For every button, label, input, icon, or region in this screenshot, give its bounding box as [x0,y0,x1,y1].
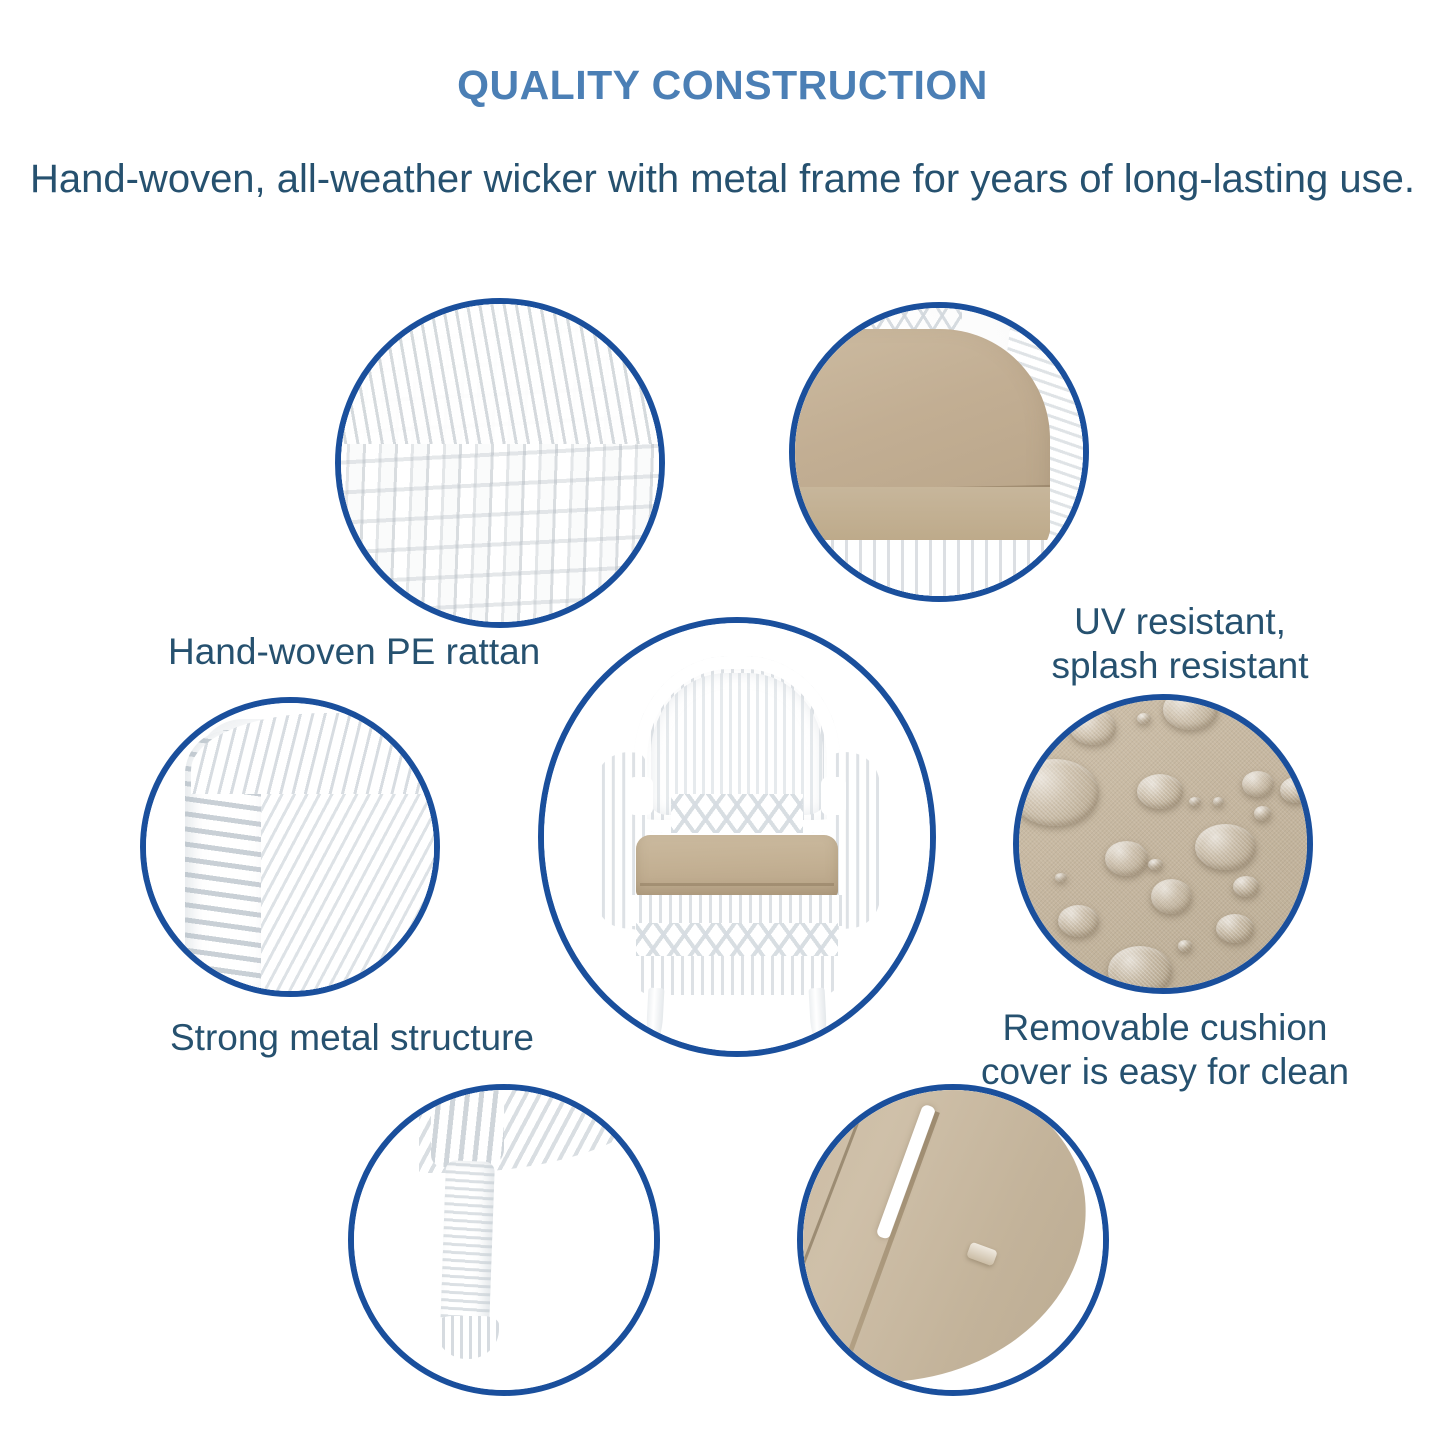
water-droplet [1070,710,1117,745]
chair-skirt-upper [632,895,843,925]
caption-removable-cushion-cover: Removable cushion cover is easy for clea… [980,1006,1350,1093]
water-droplet [1108,946,1172,990]
water-droplet [1242,771,1274,797]
water-droplet [1055,873,1067,882]
water-droplet [1189,797,1201,806]
water-droplet [1195,824,1256,871]
chair-leg-left [646,988,665,1045]
page-subtitle: Hand-woven, all-weather wicker with meta… [0,157,1445,202]
chair-back-lattice [671,794,804,833]
chair-scene [542,621,932,1053]
chair-arm-opening-right [821,777,846,816]
cushion-closeup-scene [793,306,1085,598]
chair-seat-cushion [636,835,839,898]
feature-circle-hand-woven-pe-rattan [335,298,665,628]
chair-leg-right [809,988,828,1045]
photo-hand-woven-pe-rattan [339,302,661,624]
leg-woven-foot [436,1316,500,1359]
photo-arm-corner-closeup [144,701,436,993]
photo-full-chair [542,621,932,1053]
water-repellent-fabric-scene [1017,698,1309,990]
water-droplet [1254,806,1272,821]
water-droplet [1178,940,1193,952]
water-droplet [1137,774,1184,809]
water-droplet [1148,859,1163,871]
cushion-cover-fabric [801,1088,1095,1388]
arm-corner-scene [144,701,436,993]
photo-water-droplets [1017,698,1309,990]
caption-uv-splash-resistant: UV resistant, splash resistant [1020,600,1340,687]
page-title: QUALITY CONSTRUCTION [0,62,1445,109]
water-droplet [1213,797,1225,806]
feature-circle-full-chair [538,617,936,1057]
cushion-zipper-scene [801,1088,1105,1392]
chair-leg-scene [352,1088,656,1392]
water-droplet [1105,841,1149,876]
chair-seat-wicker [793,540,1085,598]
chair-arm-opening-left [628,777,653,816]
water-droplet [1058,905,1099,937]
feature-circle-removable-cushion-cover [1013,694,1313,994]
water-droplet [1151,879,1192,914]
photo-cushion-zipper [801,1088,1105,1392]
wicker-weave-upper-band [339,302,661,444]
water-droplet [1216,914,1254,943]
water-droplet [1280,777,1309,803]
water-droplet [1233,876,1259,896]
leg-wrapped-post [440,1160,495,1332]
leg-upper-weave [431,1088,504,1167]
feature-circle-strong-metal-structure [140,697,440,997]
water-droplet [1017,759,1099,826]
water-droplet [1163,698,1218,730]
caption-hand-woven-pe-rattan: Hand-woven PE rattan [168,630,588,674]
feature-circle-zipper-detail [797,1084,1109,1396]
photo-seat-cushion-closeup [793,306,1085,598]
feature-circle-uv-splash-resistant [789,302,1089,602]
feature-circle-chair-leg-detail [348,1084,660,1396]
photo-chair-leg [352,1088,656,1392]
chair-skirt-lattice [636,923,839,958]
water-droplet [1137,713,1152,725]
infographic-page: QUALITY CONSTRUCTION Hand-woven, all-wea… [0,0,1445,1445]
